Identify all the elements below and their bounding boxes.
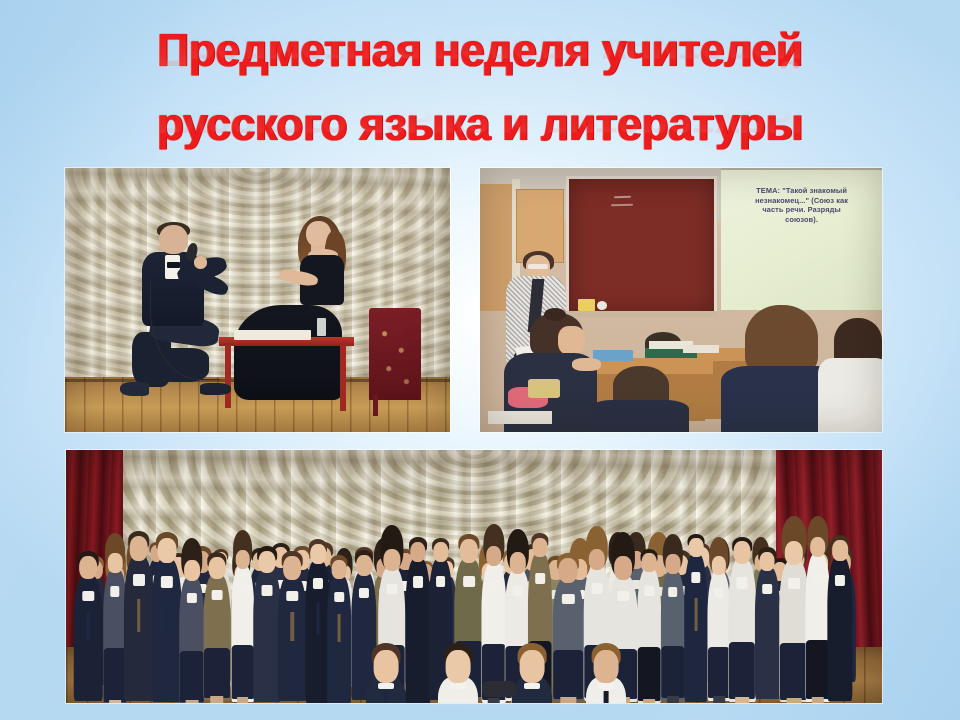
person-necktie <box>338 614 341 643</box>
person-head <box>509 552 525 574</box>
person-head <box>235 550 250 569</box>
person-head <box>446 650 471 683</box>
person-collar <box>598 683 614 689</box>
person-head <box>310 544 326 565</box>
person-collar <box>238 583 247 594</box>
person-collar <box>535 573 545 585</box>
person-head <box>332 560 347 580</box>
title-line-2-text: русского языка и литературы <box>157 98 803 150</box>
person-skirt <box>231 645 254 699</box>
person-collar <box>359 588 369 598</box>
person-legs <box>713 696 725 703</box>
group-person <box>553 559 584 701</box>
person-necktie <box>165 601 169 634</box>
title-line-1: Предметная неделя учителей Предметная не… <box>14 24 945 76</box>
person-head <box>433 542 448 562</box>
person-head <box>283 556 301 579</box>
person-necktie <box>384 691 389 703</box>
person-collar <box>813 572 823 584</box>
person-collar <box>763 584 773 594</box>
photo-classroom-lesson: ТЕМА: "Такой знакомый незнакомец..." (Со… <box>480 168 882 432</box>
group-person <box>179 561 205 703</box>
person-collar <box>835 575 845 586</box>
person-head <box>832 540 848 561</box>
photo-stage-scene <box>65 168 450 432</box>
group-person <box>278 557 307 700</box>
title-line-2: русского языка и литературы русского язы… <box>14 98 945 150</box>
person-legs <box>237 697 249 703</box>
person-legs <box>487 698 500 703</box>
person-collar <box>110 586 119 597</box>
person-legs <box>644 699 656 703</box>
person-necktie <box>137 599 141 632</box>
photo-vignette <box>65 168 450 432</box>
person-head <box>410 542 425 562</box>
person-collar <box>645 586 654 596</box>
stage-scene-content <box>65 168 450 432</box>
person-head <box>594 650 619 683</box>
person-collar <box>262 585 273 596</box>
person-head <box>208 557 225 579</box>
group-person <box>708 557 731 701</box>
person-legs <box>787 698 802 703</box>
group-photo-content <box>66 450 882 703</box>
group-person <box>755 552 779 699</box>
person-head <box>785 541 803 565</box>
presentation-slide: Предметная неделя учителей Предметная не… <box>0 0 960 720</box>
person-head <box>184 560 200 581</box>
person-collar <box>211 590 222 600</box>
group-person <box>729 542 756 702</box>
person-head <box>665 554 680 574</box>
person-collar <box>83 591 94 601</box>
person-necktie <box>695 598 698 631</box>
person-collar <box>788 578 800 589</box>
group-person <box>827 541 852 701</box>
group-person <box>231 551 255 702</box>
person-skirt <box>780 643 808 700</box>
person-collar <box>386 584 397 595</box>
person-head <box>383 549 400 572</box>
group-person <box>327 560 351 703</box>
person-skirt <box>729 642 755 699</box>
group-person <box>512 651 552 703</box>
person-collar <box>436 576 446 587</box>
slide-title: Предметная неделя учителей Предметная не… <box>0 8 960 160</box>
group-person <box>586 651 626 703</box>
person-head <box>589 549 605 571</box>
group-person <box>405 542 430 703</box>
person-collar <box>413 576 423 587</box>
group-person <box>366 651 406 703</box>
person-head <box>533 538 548 558</box>
person-skirt <box>180 651 205 702</box>
person-legs <box>109 700 121 703</box>
person-head <box>79 556 97 579</box>
person-skirt <box>708 647 730 698</box>
person-head <box>559 558 578 583</box>
person-collar <box>187 593 197 603</box>
person-collar <box>133 574 145 585</box>
bag-on-floor <box>482 681 516 697</box>
person-collar <box>617 591 628 601</box>
person-head <box>486 546 502 567</box>
person-collar <box>378 683 394 689</box>
person-head <box>734 541 751 563</box>
photo-vignette <box>480 168 882 432</box>
group-person <box>124 537 154 700</box>
group-person <box>74 557 103 702</box>
person-collar <box>562 594 574 604</box>
photo-group <box>66 450 882 703</box>
person-collar <box>313 578 323 589</box>
group-person <box>254 551 281 701</box>
person-legs <box>667 696 679 703</box>
person-legs <box>185 700 198 703</box>
group-person <box>638 554 662 703</box>
person-head <box>760 552 775 572</box>
person-legs <box>811 697 824 703</box>
person-head <box>108 553 123 572</box>
person-collar <box>524 683 540 689</box>
person-head <box>129 536 148 561</box>
person-collar <box>489 580 499 591</box>
group-person <box>684 539 707 702</box>
person-collar <box>334 592 344 602</box>
person-head <box>689 538 704 557</box>
person-necktie <box>291 612 294 641</box>
person-legs <box>561 697 576 703</box>
person-collar <box>668 587 678 597</box>
person-skirt <box>204 648 230 698</box>
person-head <box>259 551 276 574</box>
title-line-1-text: Предметная неделя учителей <box>157 24 803 76</box>
person-skirt <box>661 646 684 698</box>
group-person <box>438 651 478 703</box>
person-collar <box>512 586 523 596</box>
person-collar <box>161 576 173 587</box>
group-person <box>203 557 230 700</box>
person-head <box>374 650 399 683</box>
person-head <box>520 650 545 683</box>
person-head <box>810 537 826 558</box>
person-skirt <box>638 647 661 701</box>
person-collar <box>592 583 603 594</box>
person-skirt <box>806 640 830 699</box>
person-head <box>712 556 726 575</box>
person-head <box>157 538 176 563</box>
person-collar <box>691 572 700 583</box>
person-skirt <box>554 650 584 699</box>
person-head <box>356 555 372 576</box>
group-person <box>151 539 182 702</box>
person-necktie <box>87 612 90 641</box>
person-collar <box>463 576 475 587</box>
person-head <box>460 539 478 563</box>
person-collar <box>287 591 298 601</box>
classroom-scene-content: ТЕМА: "Такой знакомый незнакомец..." (Со… <box>480 168 882 432</box>
person-necktie <box>604 691 609 703</box>
group-person <box>481 546 506 702</box>
person-collar <box>714 588 723 598</box>
person-legs <box>735 697 749 703</box>
person-head <box>642 553 657 572</box>
person-necktie <box>316 603 319 635</box>
person-head <box>614 556 632 579</box>
person-collar <box>737 577 748 588</box>
person-collar <box>450 683 466 689</box>
group-person <box>660 555 684 701</box>
person-legs <box>210 696 224 703</box>
